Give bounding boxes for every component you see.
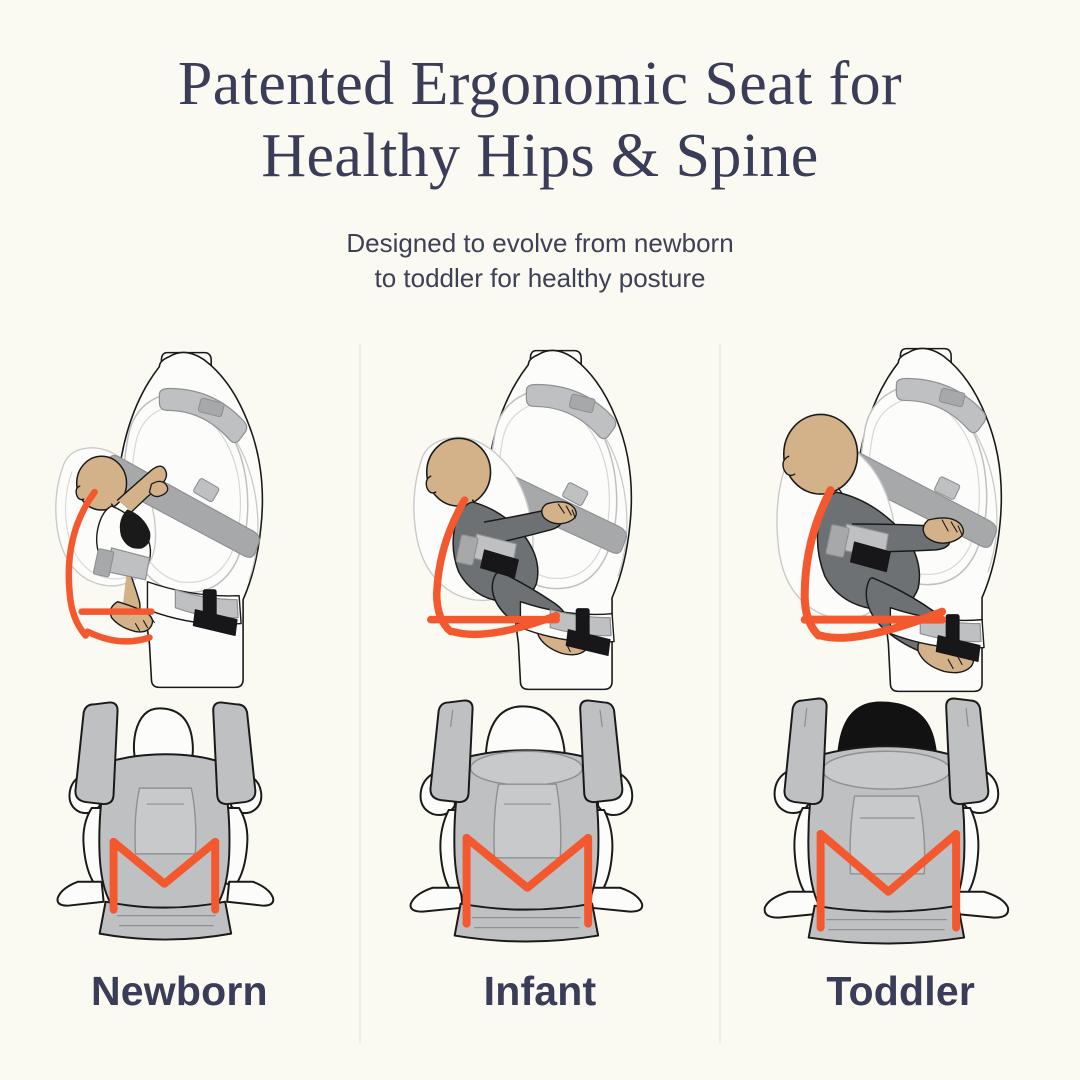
- baby-carrier-side-view-newborn-icon: [0, 344, 359, 696]
- baby-carrier-side-view-infant-icon: [361, 344, 720, 696]
- page-title-line-1: Patented Ergonomic Seat for: [60, 48, 1020, 120]
- stage-column-newborn: Newborn: [0, 344, 359, 1044]
- stage-label-newborn: Newborn: [0, 968, 367, 1015]
- stage-label-infant: Infant: [361, 968, 754, 1015]
- baby-carrier-front-view-toddler-icon: [721, 696, 1080, 946]
- page-subtitle-line-1: Designed to evolve from newborn: [0, 226, 1080, 261]
- stage-column-toddler: Toddler: [719, 344, 1080, 1044]
- page-title: Patented Ergonomic Seat for Healthy Hips…: [0, 48, 1080, 192]
- stage-column-infant: Infant: [359, 344, 720, 1044]
- stage-label-toddler: Toddler: [721, 968, 1080, 1015]
- page-title-line-2: Healthy Hips & Spine: [60, 120, 1020, 192]
- baby-carrier-front-view-newborn-icon: [0, 696, 359, 946]
- stage-columns: Newborn: [0, 344, 1080, 1044]
- page-subtitle: Designed to evolve from newborn to toddl…: [0, 226, 1080, 296]
- header: Patented Ergonomic Seat for Healthy Hips…: [0, 48, 1080, 296]
- baby-carrier-front-view-infant-icon: [361, 696, 720, 946]
- page-subtitle-line-2: to toddler for healthy posture: [0, 261, 1080, 296]
- baby-carrier-side-view-toddler-icon: [721, 344, 1080, 696]
- infographic-page: Patented Ergonomic Seat for Healthy Hips…: [0, 0, 1080, 1080]
